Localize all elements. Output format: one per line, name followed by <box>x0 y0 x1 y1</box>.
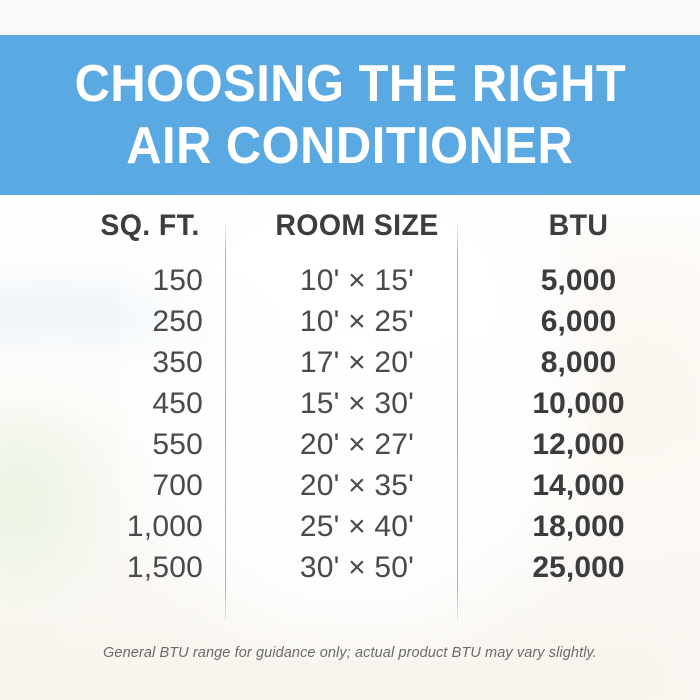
row-gap <box>225 260 257 301</box>
row-gap <box>457 424 482 465</box>
table-row: 8,000 <box>482 342 675 383</box>
row-gap <box>457 547 482 588</box>
row-pad <box>0 301 75 342</box>
row-pad <box>675 260 700 301</box>
table-row: 1,000 <box>75 506 225 547</box>
table-row: 700 <box>75 465 225 506</box>
row-gap <box>225 506 257 547</box>
row-pad <box>0 547 75 588</box>
btu-sizing-table: SQ. FT. ROOM SIZE BTU 150 10' × 15' 5,00… <box>0 200 700 640</box>
row-pad <box>0 383 75 424</box>
row-pad <box>675 465 700 506</box>
row-pad <box>675 383 700 424</box>
table-row: 5,000 <box>482 260 675 301</box>
table-row: 10' × 25' <box>257 301 457 342</box>
column-header-sq-ft: SQ. FT. <box>79 200 222 252</box>
row-pad <box>675 342 700 383</box>
row-gap <box>457 506 482 547</box>
row-pad <box>0 260 75 301</box>
grid-pad-left <box>0 200 75 252</box>
row-gap <box>457 383 482 424</box>
table-row: 20' × 35' <box>257 465 457 506</box>
table-row: 10,000 <box>482 383 675 424</box>
table-row: 250 <box>75 301 225 342</box>
header-spacer-b <box>75 252 225 260</box>
table-row: 30' × 50' <box>257 547 457 588</box>
table-row: 550 <box>75 424 225 465</box>
row-pad <box>0 424 75 465</box>
row-pad <box>675 424 700 465</box>
header-spacer-e <box>457 252 482 260</box>
header-spacer-d <box>257 252 457 260</box>
table-row: 150 <box>75 260 225 301</box>
row-gap <box>225 465 257 506</box>
row-gap <box>457 465 482 506</box>
row-gap <box>225 342 257 383</box>
table-row: 20' × 27' <box>257 424 457 465</box>
column-header-btu: BTU <box>487 200 670 252</box>
header-title-line-2: AIR CONDITIONER <box>127 115 574 177</box>
grid-pad-right <box>675 200 700 252</box>
row-gap <box>457 260 482 301</box>
row-gap <box>457 342 482 383</box>
row-pad <box>675 547 700 588</box>
header-spacer-a <box>0 252 75 260</box>
table-row: 25,000 <box>482 547 675 588</box>
row-pad <box>675 301 700 342</box>
row-gap <box>225 301 257 342</box>
header-title-line-1: CHOOSING THE RIGHT <box>74 53 626 115</box>
footnote-disclaimer: General BTU range for guidance only; act… <box>0 645 700 661</box>
top-strip <box>0 0 700 35</box>
table-row: 350 <box>75 342 225 383</box>
row-gap <box>225 424 257 465</box>
grid-gap-2 <box>457 200 482 252</box>
row-gap <box>225 547 257 588</box>
row-gap <box>457 301 482 342</box>
row-gap <box>225 383 257 424</box>
header-spacer-g <box>675 252 700 260</box>
column-header-room-size: ROOM SIZE <box>262 200 452 252</box>
row-pad <box>0 342 75 383</box>
header-spacer-c <box>225 252 257 260</box>
row-pad <box>675 506 700 547</box>
table-row: 17' × 20' <box>257 342 457 383</box>
table-row: 25' × 40' <box>257 506 457 547</box>
table-row: 15' × 30' <box>257 383 457 424</box>
table-row: 1,500 <box>75 547 225 588</box>
table-grid: SQ. FT. ROOM SIZE BTU 150 10' × 15' 5,00… <box>0 200 700 588</box>
grid-gap-1 <box>225 200 257 252</box>
table-row: 450 <box>75 383 225 424</box>
table-row: 6,000 <box>482 301 675 342</box>
row-pad <box>0 465 75 506</box>
table-row: 12,000 <box>482 424 675 465</box>
table-row: 18,000 <box>482 506 675 547</box>
row-pad <box>0 506 75 547</box>
infographic-poster: CHOOSING THE RIGHT AIR CONDITIONER SQ. F… <box>0 0 700 700</box>
table-row: 10' × 15' <box>257 260 457 301</box>
header-spacer-f <box>482 252 675 260</box>
header-banner: CHOOSING THE RIGHT AIR CONDITIONER <box>0 35 700 195</box>
table-row: 14,000 <box>482 465 675 506</box>
